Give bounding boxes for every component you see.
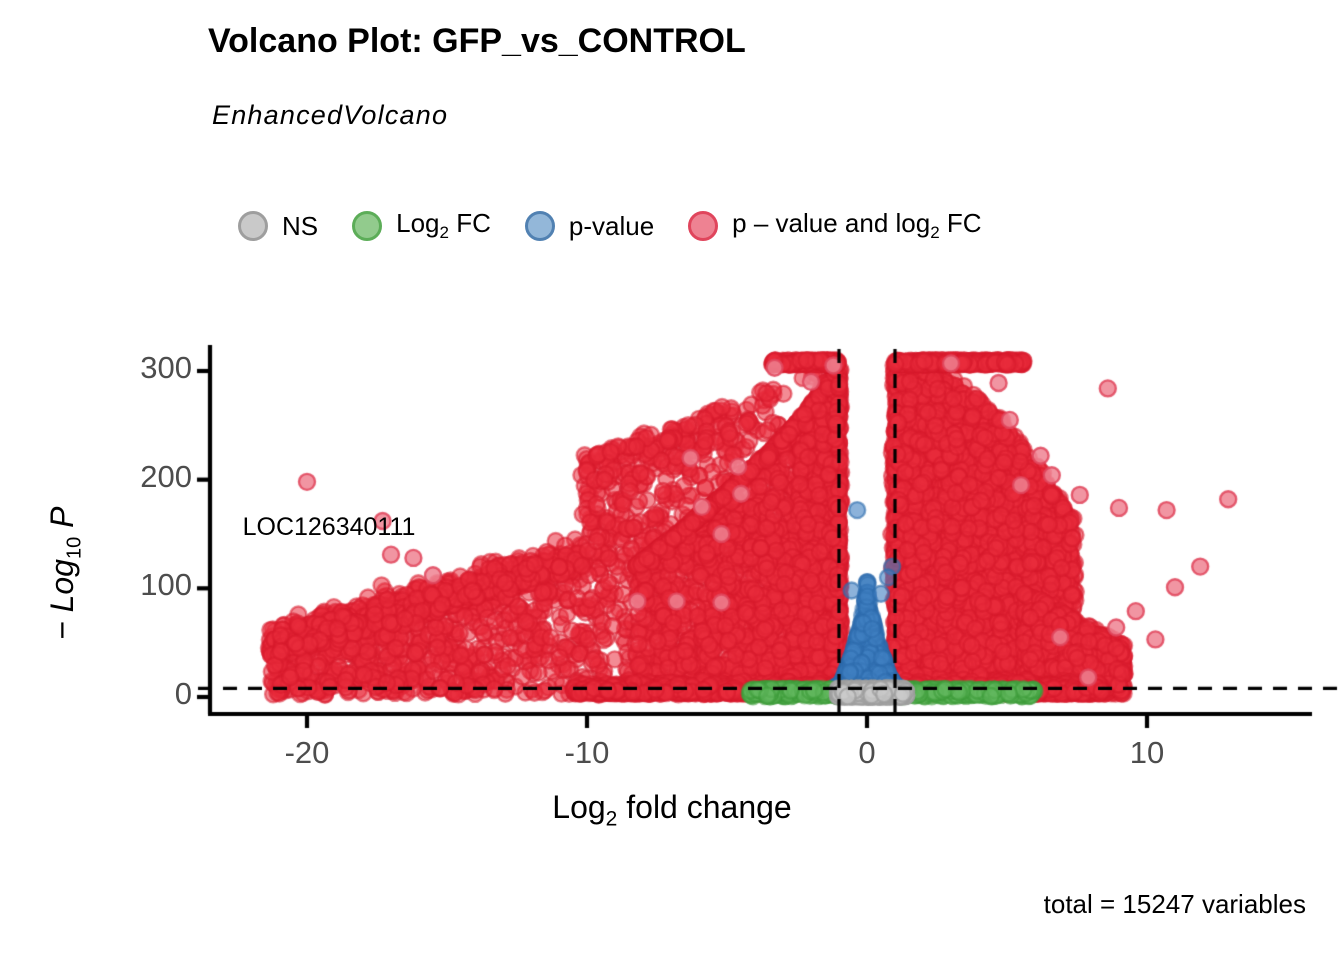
y-tick-label: 200 — [52, 459, 192, 495]
total-variables-caption: total = 15247 variables — [1044, 889, 1306, 920]
y-tick-label: 100 — [52, 567, 192, 603]
volcano-plot-figure: Volcano Plot: GFP_vs_CONTROL EnhancedVol… — [0, 0, 1344, 960]
gene-label: LOC126340111 — [243, 513, 416, 542]
x-tick-label: 10 — [1067, 735, 1227, 771]
x-tick-label: 0 — [787, 735, 947, 771]
y-tick-label: 0 — [52, 676, 192, 712]
x-tick-label: -10 — [507, 735, 667, 771]
y-tick-label: 300 — [52, 350, 192, 386]
x-axis-label: Log2 fold change — [0, 789, 1344, 831]
x-tick-label: -20 — [227, 735, 387, 771]
